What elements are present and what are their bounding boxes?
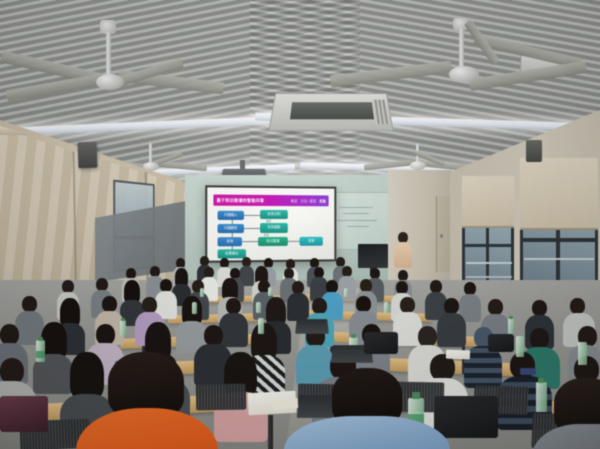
head bbox=[96, 324, 115, 345]
wall-speaker-right bbox=[526, 140, 542, 162]
head bbox=[142, 297, 157, 313]
exterior-railing bbox=[466, 262, 512, 264]
seminar-room-photo: 基于知识图谱的智能问答 概述 方法 / 模型 实验 问题输入 实体识别 问题解析… bbox=[0, 0, 600, 449]
chair bbox=[196, 384, 246, 411]
fan-blade bbox=[6, 74, 102, 102]
water-bottle bbox=[516, 336, 524, 357]
bottle-cap bbox=[509, 316, 513, 319]
slide-node: 问题解析 bbox=[218, 224, 244, 233]
head bbox=[102, 296, 117, 312]
slide-connector bbox=[244, 228, 260, 229]
water-bottle bbox=[384, 302, 389, 313]
whiteboard-mark bbox=[343, 213, 369, 214]
slide-node: 查询 bbox=[218, 237, 242, 246]
bottle-cap bbox=[351, 334, 356, 338]
whiteboard-mark bbox=[339, 207, 373, 208]
hair bbox=[70, 352, 104, 400]
exterior-railing bbox=[524, 258, 594, 260]
fan-hub bbox=[96, 74, 124, 90]
desk-leg bbox=[268, 415, 273, 449]
fan-blade bbox=[469, 61, 587, 91]
water-bottle bbox=[120, 320, 126, 336]
torso bbox=[219, 313, 248, 347]
laptop bbox=[295, 319, 329, 334]
water-bottle bbox=[344, 288, 348, 297]
bag bbox=[488, 334, 514, 352]
water-bottle bbox=[268, 287, 272, 296]
fan-hub bbox=[410, 161, 426, 170]
torso bbox=[437, 313, 466, 347]
torso bbox=[287, 293, 309, 321]
water-bottle bbox=[200, 288, 204, 297]
slide-connector-label: 映射 bbox=[266, 219, 271, 223]
ceiling-fan-upper-right bbox=[365, 18, 600, 123]
window-mullion bbox=[520, 238, 598, 242]
wall-speaker-left bbox=[78, 142, 98, 169]
ceiling-fan-upper-left bbox=[20, 20, 230, 130]
exterior-railing bbox=[466, 276, 512, 278]
slide-node: 关系抽取 bbox=[260, 223, 288, 233]
front-monitor bbox=[358, 244, 388, 268]
slide-tab-active: 实验 bbox=[319, 198, 326, 203]
slide-connector bbox=[232, 220, 233, 224]
slide-node: 知识图谱 bbox=[258, 237, 288, 246]
head bbox=[0, 324, 19, 345]
roller-blind-right-1 bbox=[462, 176, 514, 228]
fan-rod bbox=[459, 28, 464, 68]
head bbox=[444, 298, 459, 314]
fan-hub bbox=[449, 66, 479, 83]
slide-tab: 概述 bbox=[291, 198, 298, 203]
water-bottle bbox=[258, 318, 264, 334]
paper-handout bbox=[446, 350, 470, 360]
window-mullion bbox=[462, 244, 514, 247]
bag bbox=[0, 396, 48, 432]
head bbox=[530, 328, 549, 349]
whiteboard-mark bbox=[347, 226, 369, 227]
head bbox=[488, 299, 503, 315]
water-bottle bbox=[508, 318, 514, 334]
head bbox=[418, 326, 437, 347]
head bbox=[532, 300, 547, 316]
bottle-cap bbox=[412, 392, 420, 399]
projected-slide: 基于知识图谱的智能问答 概述 方法 / 模型 实验 问题输入 实体识别 问题解析… bbox=[207, 187, 334, 260]
fan-rod bbox=[106, 32, 111, 76]
head bbox=[22, 296, 37, 312]
bag bbox=[364, 332, 398, 354]
fan-blade bbox=[364, 160, 412, 171]
head bbox=[226, 298, 241, 314]
whiteboard bbox=[330, 192, 392, 250]
slide-connector bbox=[288, 241, 300, 242]
slide-node: 实体识别 bbox=[260, 210, 288, 219]
slide-title: 基于知识图谱的智能问答 bbox=[217, 197, 265, 203]
door-knob-icon[interactable] bbox=[440, 234, 443, 238]
water-bottle bbox=[256, 302, 261, 313]
bottle-label bbox=[36, 351, 45, 358]
phone bbox=[520, 368, 536, 375]
slide-connector bbox=[242, 241, 258, 242]
bottle-cap bbox=[121, 318, 125, 321]
bottle-cap bbox=[538, 378, 544, 383]
head bbox=[570, 298, 585, 314]
slide-tab-group: 概述 方法 / 模型 实验 bbox=[291, 198, 326, 203]
paper-handout bbox=[272, 398, 299, 410]
bottle-cap bbox=[38, 337, 43, 341]
roller-blind-right-2 bbox=[520, 158, 598, 230]
head bbox=[356, 296, 371, 312]
ac-grill bbox=[290, 102, 374, 119]
projection-screen: 基于知识图谱的智能问答 概述 方法 / 模型 实验 问题输入 实体识别 问题解析… bbox=[205, 185, 336, 262]
slide-connector bbox=[232, 233, 233, 237]
slide-node: 问题输入 bbox=[218, 211, 244, 220]
slide-connector bbox=[232, 246, 233, 249]
water-bottle bbox=[536, 382, 547, 412]
torso bbox=[394, 242, 412, 268]
slide-tab: 方法 / 模型 bbox=[300, 198, 316, 203]
whiteboard-mark bbox=[337, 220, 377, 221]
slide-node: 结果输出 bbox=[218, 249, 246, 258]
slide-header-bar: 基于知识图谱的智能问答 概述 方法 / 模型 实验 bbox=[213, 195, 328, 207]
head bbox=[400, 297, 415, 313]
slide-node: 答案 bbox=[300, 237, 323, 246]
fan-rod bbox=[149, 143, 152, 163]
water-bottle bbox=[192, 302, 197, 314]
water-bottle bbox=[578, 342, 587, 365]
slide-connector-label: 检索 bbox=[264, 233, 269, 237]
head bbox=[204, 325, 223, 346]
slide-connector bbox=[244, 215, 260, 216]
head bbox=[312, 298, 327, 314]
